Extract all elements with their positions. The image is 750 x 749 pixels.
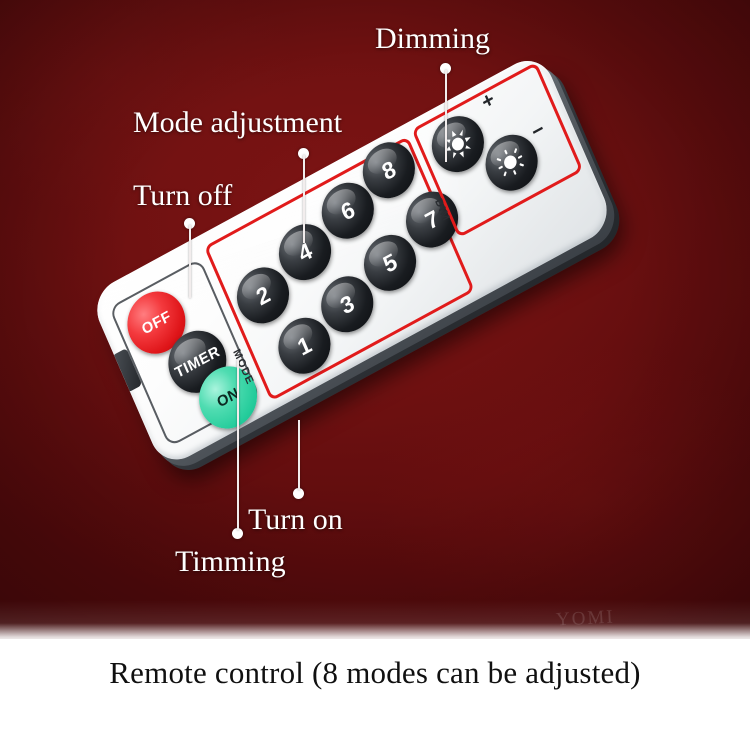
caption-area: Remote control (8 modes can be adjusted): [0, 639, 750, 749]
callout-label-mode-adjustment: Mode adjustment: [133, 106, 342, 140]
mode-button-3-label: 3: [336, 289, 358, 320]
callout-leader-dimming: [445, 70, 447, 162]
mode-button-2-label: 2: [252, 280, 274, 311]
callout-leader-turn-on: [298, 420, 300, 490]
off-button-label: OFF: [139, 307, 173, 338]
callout-leader-timming: [237, 360, 239, 530]
callout-label-dimming: Dimming: [375, 22, 490, 56]
mode-button-8-label: 8: [378, 155, 400, 186]
callout-label-turn-off: Turn off: [133, 179, 232, 213]
callout-label-timming: Timming: [175, 545, 286, 579]
mode-button-1-label: 1: [293, 330, 315, 361]
mode-button-5-label: 5: [379, 247, 401, 278]
mode-button-6-label: 6: [337, 195, 359, 226]
callout-leader-mode-adjustment: [303, 155, 305, 243]
sun-dim-icon: [492, 142, 530, 184]
callout-leader-turn-off: [189, 225, 191, 298]
background-bottom-fade: [0, 600, 750, 642]
callout-label-turn-on: Turn on: [248, 503, 343, 537]
caption-text: Remote control (8 modes can be adjusted): [0, 655, 750, 691]
product-image: OFF TIMER ON MODE 2 4: [0, 0, 750, 749]
